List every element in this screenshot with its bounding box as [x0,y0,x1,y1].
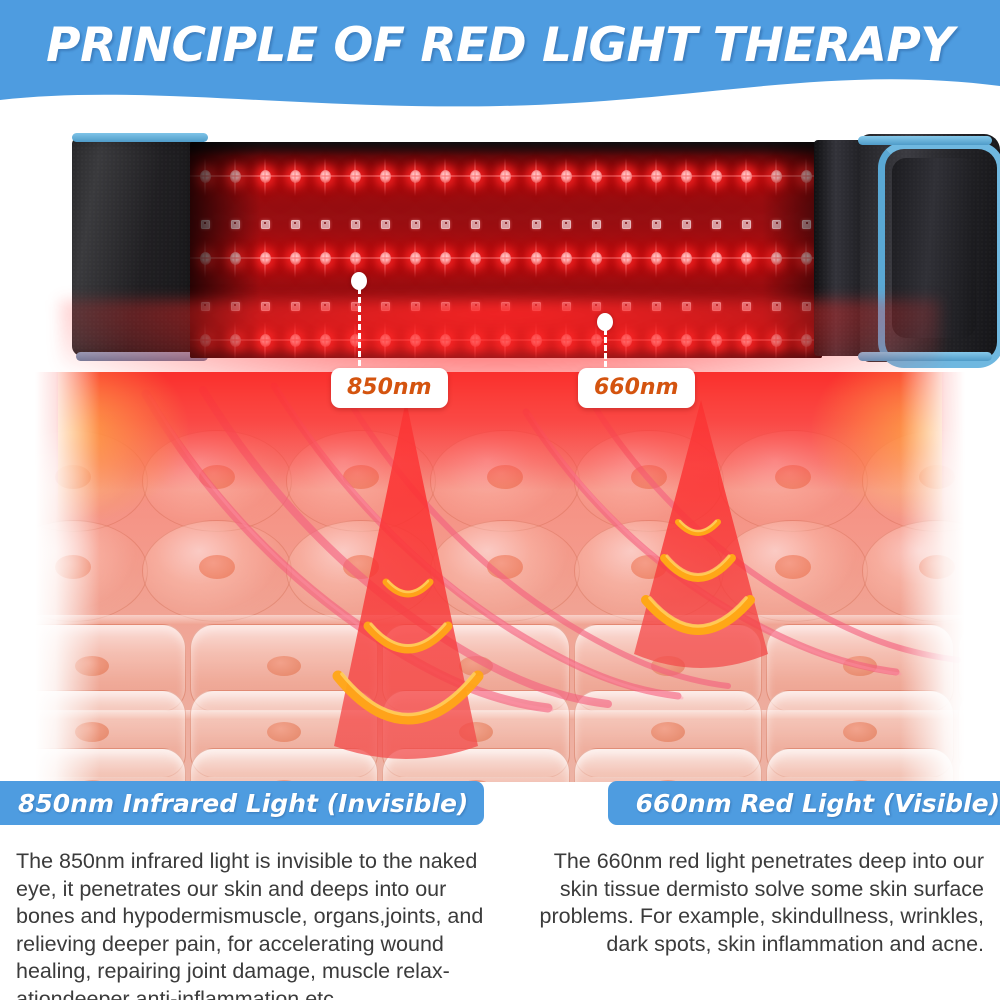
therapy-belt-device [72,124,928,370]
led-row-square [190,302,822,311]
led-round [440,252,451,265]
led-round [500,170,511,183]
skin-tissue-illustration [28,372,972,782]
belt-right-bottom-trim [858,352,992,361]
led-square [261,302,270,311]
led-round [470,252,481,265]
section-body-660nm: The 660nm red light penetrates deep into… [512,848,984,958]
led-square [682,302,691,311]
led-round [711,334,722,347]
led-square [381,220,390,229]
led-round [380,252,391,265]
panel-right-shadow [762,142,822,358]
belt-right-top-trim [858,136,992,145]
led-round [681,252,692,265]
led-row-round [190,334,822,347]
energy-waves-850nm [304,568,514,758]
belt-left-section [72,138,204,356]
led-round [741,170,752,183]
led-square [592,302,601,311]
pointer-line-660nm [604,329,607,367]
led-round [470,170,481,183]
led-round [380,170,391,183]
led-square [682,220,691,229]
belt-left-top-trim [72,133,208,142]
led-round [591,252,602,265]
led-square [622,302,631,311]
led-square [411,302,420,311]
led-round [290,170,301,183]
panel-left-shadow [190,142,260,358]
led-round [350,252,361,265]
led-square [742,220,751,229]
section-banner-660nm: 660nm Red Light (Visible) [608,781,1000,825]
led-round [561,252,572,265]
led-round [741,252,752,265]
led-round [561,170,572,183]
led-square [622,220,631,229]
led-square [742,302,751,311]
led-round [260,252,271,265]
energy-waves-660nm [610,510,800,670]
led-row-round [190,252,822,265]
led-round [260,170,271,183]
led-round [500,334,511,347]
led-row-square [190,220,822,229]
infographic-page: PRINCIPLE OF RED LIGHT THERAPY [0,0,1000,1000]
led-round [290,334,301,347]
skin-left-fade [28,372,100,782]
led-round [350,170,361,183]
led-round [470,334,481,347]
led-square [411,220,420,229]
led-square [321,220,330,229]
led-round [651,170,662,183]
section-banner-850nm: 850nm Infrared Light (Invisible) [0,781,484,825]
panel-top-shadow [190,142,822,156]
belt-left-bottom-trim [76,352,208,361]
led-square [592,220,601,229]
led-round [380,334,391,347]
callout-660nm: 660nm [578,368,695,408]
led-square [351,220,360,229]
led-round [621,252,632,265]
led-square [441,220,450,229]
led-square [712,302,721,311]
header-banner: PRINCIPLE OF RED LIGHT THERAPY [0,0,1000,112]
led-round [561,334,572,347]
belt-right-inner-patch [892,158,976,338]
led-square [261,220,270,229]
led-square [652,220,661,229]
skin-cross-section [0,372,1000,782]
led-square [712,220,721,229]
led-round [651,252,662,265]
page-title: PRINCIPLE OF RED LIGHT THERAPY [0,18,1000,73]
led-round [410,334,421,347]
led-round [681,170,692,183]
led-round [320,252,331,265]
led-square [652,302,661,311]
led-square [501,220,510,229]
pointer-line-850nm [358,288,361,366]
led-round [741,334,752,347]
led-round [591,334,602,347]
led-square [321,302,330,311]
led-square [441,302,450,311]
led-square [291,302,300,311]
led-round [591,170,602,183]
led-square [381,302,390,311]
led-round [290,252,301,265]
skin-right-fade [900,372,972,782]
led-square [501,302,510,311]
led-square [291,220,300,229]
led-round [320,170,331,183]
led-row-round [190,170,822,183]
led-round [711,252,722,265]
led-round [320,334,331,347]
callout-850nm: 850nm [331,368,448,408]
led-square [562,302,571,311]
led-square [532,302,541,311]
led-round [681,334,692,347]
led-round [651,334,662,347]
led-round [440,170,451,183]
section-banner-850nm-label: 850nm Infrared Light (Invisible) [18,789,468,818]
led-panel [190,142,822,358]
led-round [711,170,722,183]
section-body-850nm: The 850nm infrared light is invisible to… [16,848,486,1000]
led-round [531,252,542,265]
led-square [532,220,541,229]
belt-right-strap [814,134,1000,362]
section-banner-660nm-label: 660nm Red Light (Visible) [636,789,1000,818]
led-round [410,170,421,183]
led-square [471,302,480,311]
led-round [260,334,271,347]
led-round [410,252,421,265]
led-square [562,220,571,229]
led-round [440,334,451,347]
led-square [471,220,480,229]
led-round [621,170,632,183]
led-round [531,334,542,347]
led-round [531,170,542,183]
led-round [621,334,632,347]
led-round [500,252,511,265]
